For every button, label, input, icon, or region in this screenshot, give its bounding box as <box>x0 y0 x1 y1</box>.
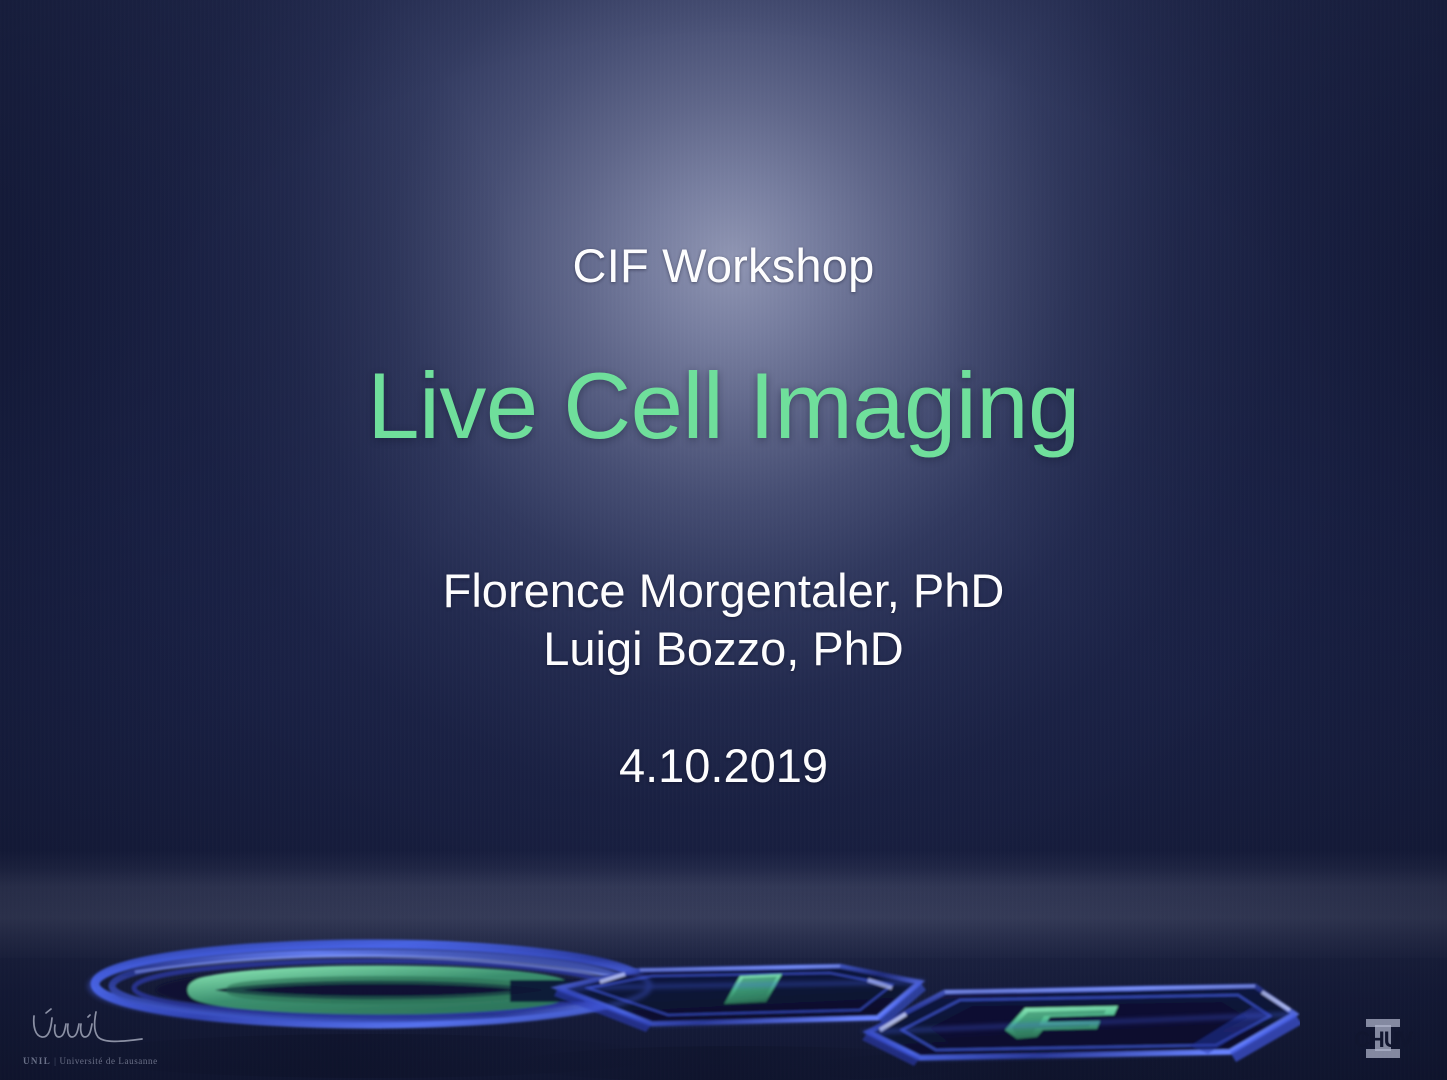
presentation-slide: CIF Workshop Live Cell Imaging Florence … <box>0 0 1447 1080</box>
unil-fullname: Université de Lausanne <box>60 1056 158 1066</box>
unil-mark: UNIL <box>23 1056 51 1066</box>
unil-signature-icon <box>24 1006 164 1054</box>
chuv-wordmark: CHUV <box>1354 1027 1414 1052</box>
unil-logo: UNIL|Université de Lausanne <box>18 1006 188 1070</box>
unil-wordmark: UNIL|Université de Lausanne <box>23 1056 158 1066</box>
slide-background <box>0 0 1447 1080</box>
unil-separator: | <box>51 1056 59 1066</box>
chuv-wordmark-text: CHUV <box>1354 1027 1414 1052</box>
chuv-logo: CHUV <box>1349 1016 1431 1062</box>
